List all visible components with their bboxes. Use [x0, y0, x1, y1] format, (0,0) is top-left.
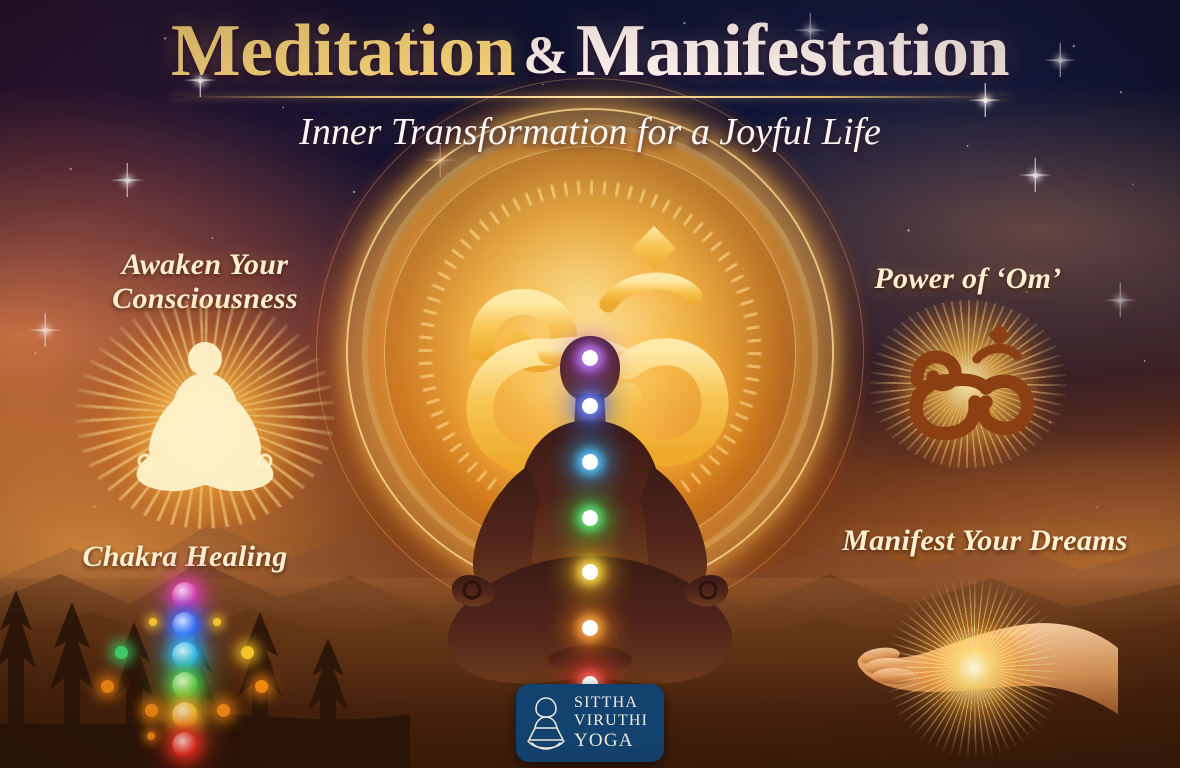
feature-manifest-caption: Manifest Your Dreams	[820, 524, 1150, 558]
chakra-orb-small	[115, 646, 128, 659]
feature-chakra-caption: Chakra Healing	[40, 540, 330, 574]
chakra-point-heart	[582, 510, 598, 526]
title-word-meditation: Meditation	[171, 10, 515, 92]
title-word-manifestation: Manifestation	[576, 10, 1009, 92]
glowing-lotus-meditation-silhouette-icon	[105, 329, 305, 499]
chakra-orb-small	[217, 704, 230, 717]
logo-line-1: SITTHA	[574, 694, 648, 712]
om-symbol-icon	[422, 200, 752, 500]
om-symbol-icon	[883, 314, 1053, 454]
chakra-orb	[172, 582, 198, 608]
page-title: Meditation&Manifestation	[0, 14, 1180, 88]
chakra-orb	[172, 672, 198, 698]
chakra-orb-small	[101, 680, 114, 693]
title-ampersand: &	[515, 25, 575, 85]
feature-chakra-healing[interactable]: Chakra Healing	[40, 540, 330, 762]
chakra-point-throat	[582, 454, 598, 470]
light-burst	[884, 578, 1064, 758]
chakra-orb	[172, 702, 198, 728]
sparkle-star-icon	[28, 313, 62, 347]
feature-om-caption: Power of ‘Om’	[828, 262, 1108, 296]
sparkle-star-icon	[1103, 283, 1137, 317]
feature-power-of-om[interactable]: Power of ‘Om’	[828, 262, 1108, 464]
sparkle-star-icon	[1018, 158, 1052, 192]
feature-manifest-dreams[interactable]: Manifest Your Dreams	[820, 524, 1150, 724]
sparkle-star-icon	[110, 163, 144, 197]
chakra-point-crown	[582, 350, 598, 366]
chakra-orb	[172, 642, 198, 668]
chakra-orb-column-icon	[95, 582, 275, 747]
brand-logo[interactable]: SITTHA VIRUTHI YOGA	[516, 684, 664, 762]
logo-line-2: VIRUTHI	[574, 712, 648, 730]
title-divider	[170, 96, 1010, 98]
page-subtitle: Inner Transformation for a Joyful Life	[0, 110, 1180, 154]
chakra-orb-small	[145, 704, 158, 717]
chakra-orb-small	[149, 618, 157, 626]
poster-header: Meditation&Manifestation Inner Transform…	[0, 0, 1180, 154]
poster-canvas: Meditation&Manifestation Inner Transform…	[0, 0, 1180, 768]
om-mandala	[310, 72, 870, 632]
chakra-orb-small	[213, 618, 221, 626]
chakra-orb	[172, 732, 198, 758]
feature-awaken-consciousness[interactable]: Awaken Your Consciousness	[60, 248, 350, 509]
logo-line-3: YOGA	[574, 730, 648, 751]
chakra-orb-small	[255, 680, 268, 693]
brand-logo-text: SITTHA VIRUTHI YOGA	[574, 694, 648, 751]
chakra-orb	[172, 612, 198, 638]
chakra-point-third-eye	[582, 398, 598, 414]
chakra-orb-small	[147, 732, 155, 740]
chakra-orb-small	[241, 646, 254, 659]
open-hand-with-light-burst-icon	[850, 564, 1120, 714]
seated-meditating-figure-line-icon	[522, 694, 570, 752]
